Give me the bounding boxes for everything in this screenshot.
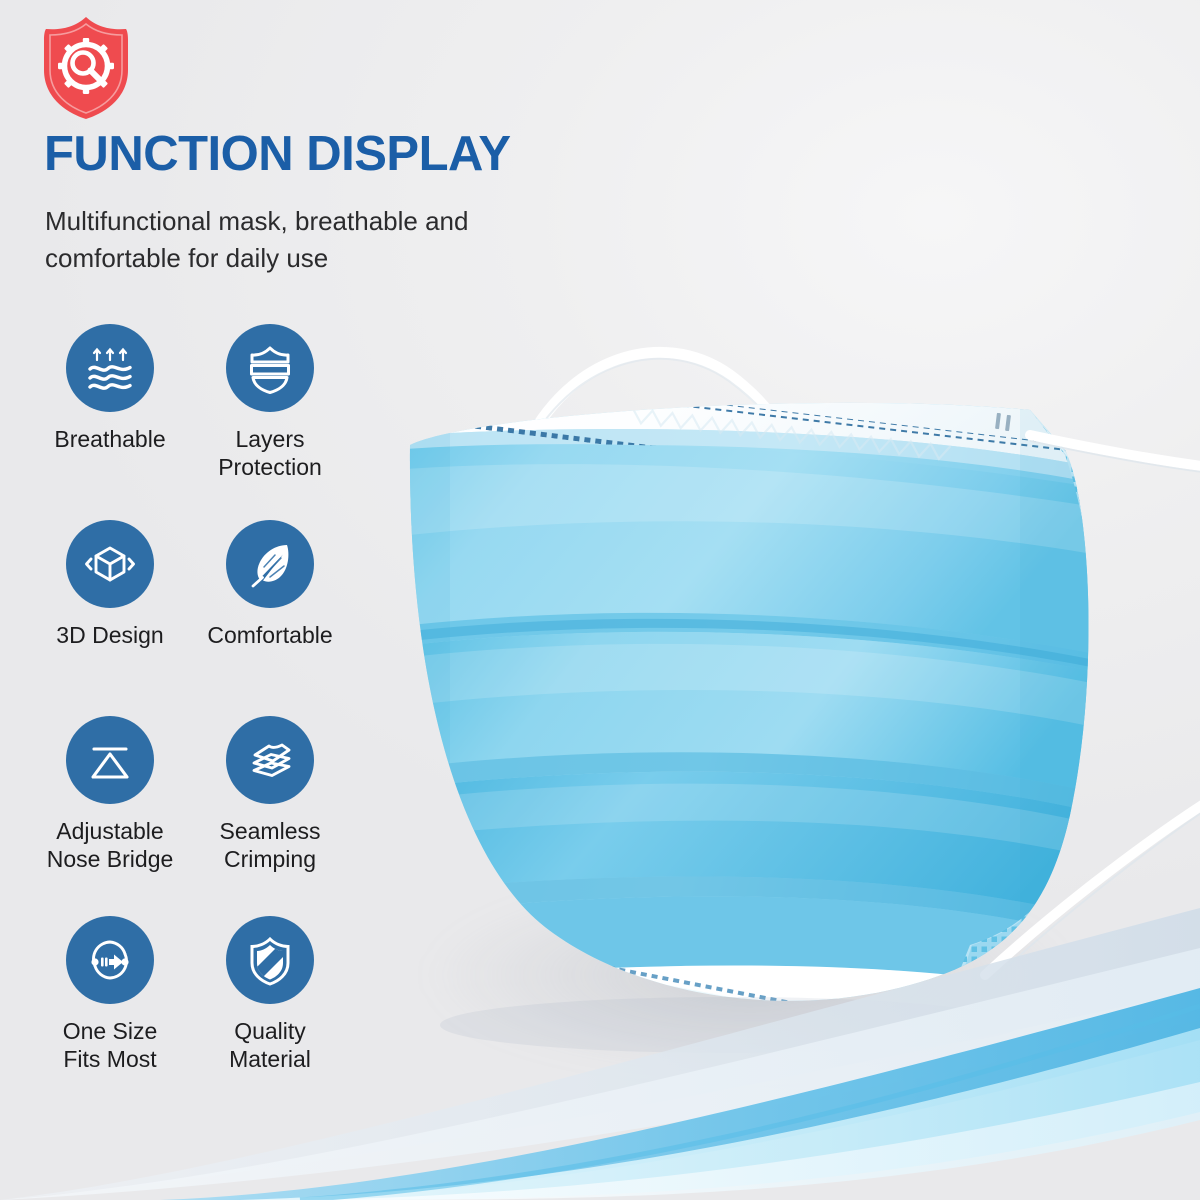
disposable-face-mask-photo (330, 255, 1200, 1055)
feature-layers-protection[interactable]: Layers Protection (190, 324, 350, 520)
feature-label: Comfortable (207, 621, 332, 649)
feature-label: One Size Fits Most (63, 1017, 158, 1073)
feature-comfortable[interactable]: Comfortable (190, 520, 350, 716)
feature-icon-circle (226, 916, 314, 1004)
feature-icon-circle (66, 916, 154, 1004)
breathable-waves-icon (82, 340, 138, 396)
feature-icon-circle (226, 324, 314, 412)
resize-arrow-circle-icon (82, 932, 138, 988)
feature-label: Quality Material (229, 1017, 311, 1073)
feature-adjustable-nose-bridge[interactable]: Adjustable Nose Bridge (30, 716, 190, 916)
feature-row: One Size Fits Most (30, 916, 380, 1116)
feature-3d-design[interactable]: 3D Design (30, 520, 190, 716)
feature-icon-circle (66, 324, 154, 412)
feature-label: Seamless Crimping (220, 817, 321, 873)
feature-row: Breathable Layers Pro (30, 324, 380, 520)
feature-row: Adjustable Nose Bridge (30, 716, 380, 916)
feature-label: 3D Design (56, 621, 163, 649)
feature-breathable[interactable]: Breathable (30, 324, 190, 520)
feature-icon-circle (226, 716, 314, 804)
layers-shield-icon (242, 340, 298, 396)
feature-seamless-crimping[interactable]: Seamless Crimping (190, 716, 350, 916)
shield-gear-search-badge-icon (34, 14, 138, 122)
quality-shield-icon (242, 932, 298, 988)
feature-icon-circle (66, 716, 154, 804)
feature-quality-material[interactable]: Quality Material (190, 916, 350, 1116)
feature-label: Breathable (54, 425, 165, 453)
feature-icon-circle (66, 520, 154, 608)
feather-icon (242, 536, 298, 592)
feature-row: 3D Design (30, 520, 380, 716)
feature-grid: Breathable Layers Pro (30, 324, 380, 1116)
feature-label: Layers Protection (218, 425, 322, 481)
page-title: FUNCTION DISPLAY (44, 130, 511, 179)
infographic-page: FUNCTION DISPLAY Multifunctional mask, b… (0, 0, 1200, 1200)
nose-bridge-icon (82, 732, 138, 788)
feature-icon-circle (226, 520, 314, 608)
cube-3d-icon (82, 536, 138, 592)
feature-one-size-fits-most[interactable]: One Size Fits Most (30, 916, 190, 1116)
feature-label: Adjustable Nose Bridge (47, 817, 174, 873)
stacked-sheets-icon (242, 732, 298, 788)
